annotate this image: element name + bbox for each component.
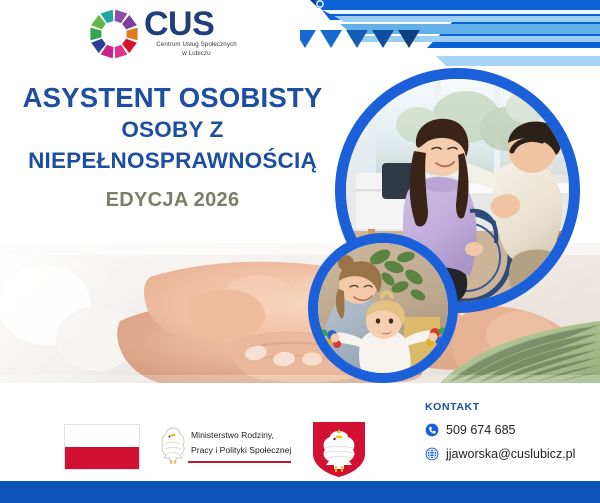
photo-circle-child [308, 233, 458, 383]
polish-flag-icon [64, 424, 140, 470]
cus-logo-subtitle-line2: w Lubiczu [144, 50, 249, 58]
phone-icon [425, 423, 439, 437]
ministry-line-2: Pracy i Polityki Społecznej [191, 444, 291, 458]
contact-block: KONTAKT 509 674 685 [425, 401, 575, 471]
cus-logo-subtitle-line1: Centrum Usług Społecznych [144, 41, 249, 49]
globe-icon [425, 447, 439, 461]
footer-blue-bar [0, 481, 600, 503]
cus-logo-ring-icon [88, 8, 140, 60]
headline-block: ASYSTENT OSOBISTY OSOBY Z NIEPEŁNOSPRAWN… [0, 82, 345, 212]
contact-phone-row[interactable]: 509 674 685 [425, 423, 575, 437]
child-photo [318, 243, 448, 373]
banner-graphic [300, 0, 600, 75]
poster-root: CUS Centrum Usług Społecznych w Lubiczu … [0, 0, 600, 503]
decorative-banner [300, 0, 600, 75]
logo-ring-segment [127, 28, 138, 41]
flag-white-stripe [65, 425, 139, 447]
cus-logo: CUS Centrum Usług Społecznych w Lubiczu [88, 6, 248, 68]
headline-line-2: OSOBY Z [0, 114, 345, 147]
ministry-line-1: Ministerstwo Rodziny, [191, 429, 291, 443]
coat-of-arms-graphic [311, 420, 367, 478]
contact-email-value: jjaworska@cuslubicz.pl [446, 447, 575, 461]
headline-line-3: NIEPEŁNOSPRAWNOŚCIĄ [0, 147, 345, 175]
contact-email-row[interactable]: jjaworska@cuslubicz.pl [425, 447, 575, 461]
flag-red-stripe [65, 447, 139, 469]
ministry-logo: Ministerstwo Rodziny, Pracy i Polityki S… [158, 424, 291, 468]
polish-coat-of-arms-icon [311, 420, 367, 478]
cus-logo-text: CUS Centrum Usług Społecznych w Lubiczu [144, 6, 249, 58]
ministry-text-block: Ministerstwo Rodziny, Pracy i Polityki S… [188, 429, 291, 463]
ministry-eagle-icon [158, 424, 188, 468]
cus-logo-wordmark: CUS [144, 8, 249, 40]
ministry-divider [188, 461, 291, 463]
headline-line-1: ASYSTENT OSOBISTY [0, 82, 345, 114]
contact-phone-value: 509 674 685 [446, 423, 516, 437]
edition-label: EDYCJA 2026 [0, 189, 345, 212]
contact-title: KONTAKT [425, 401, 575, 413]
logo-ring-segment [90, 28, 101, 41]
